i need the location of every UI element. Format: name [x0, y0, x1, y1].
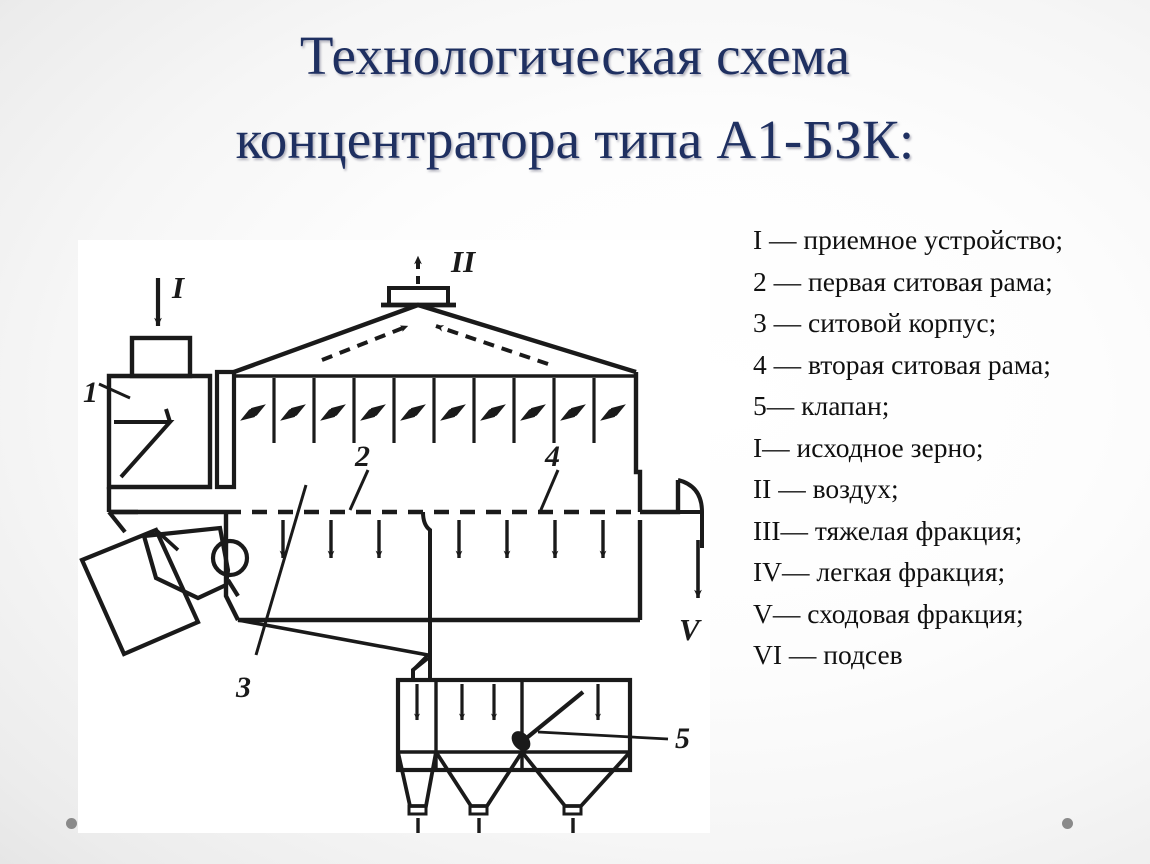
- label-part-4: 4: [544, 440, 560, 473]
- vent-box: [389, 288, 448, 305]
- legend-item-4: 4 — вторая ситовая рама;: [753, 344, 1145, 386]
- hopper-spout-III: [470, 806, 487, 814]
- figure-labels-group: 1 2 3 4 5 I II V VI III IV: [83, 244, 702, 833]
- airflow-arrow-right: [436, 326, 548, 364]
- label-part-1: 1: [83, 376, 98, 409]
- decorative-dot-left: [66, 818, 77, 829]
- legend-item-2: 2 — первая ситовая рама;: [753, 261, 1145, 303]
- drive-mechanism-group: [82, 512, 247, 654]
- hopper-spout-VI: [409, 806, 426, 814]
- legend-item-6: I— исходное зерно;: [753, 427, 1145, 469]
- housing-inclined-floor: [238, 620, 428, 655]
- legend-list: I — приемное устройство; 2 — первая сито…: [753, 219, 1145, 676]
- inlet-device-group: [99, 338, 210, 487]
- schematic-figure: 1 2 3 4 5 I II V VI III IV: [78, 240, 710, 833]
- leader-line-part-1: [99, 384, 130, 398]
- legend-item-9: IV— легкая фракция;: [753, 551, 1145, 593]
- leader-line-part-4: [540, 470, 558, 512]
- slide-canvas: Технологическая схема концентратора типа…: [0, 0, 1150, 864]
- leader-line-part-2: [350, 470, 368, 510]
- overflow-chute-group: [678, 480, 702, 598]
- air-outlet-vent-group: [381, 288, 456, 305]
- legend-item-5: 5— клапан;: [753, 385, 1145, 427]
- housing-right-step: [640, 480, 678, 512]
- label-flow-V: V: [679, 612, 702, 647]
- legend-item-1: I — приемное устройство;: [753, 219, 1145, 261]
- page-title-line-2: концентратора типа А1-БЗК:: [95, 98, 1055, 182]
- hopper-cone-III: [436, 752, 522, 806]
- collecting-hopper-group: [398, 680, 668, 814]
- hopper-spout-IV: [564, 806, 581, 814]
- legend-item-7: II — воздух;: [753, 468, 1145, 510]
- housing-roof: [234, 305, 636, 372]
- decorative-dot-right: [1062, 818, 1073, 829]
- inlet-neck-box: [132, 338, 190, 376]
- leader-lines-group: [256, 470, 558, 655]
- label-part-3: 3: [235, 671, 251, 704]
- concentrator-schematic-drawing: 1 2 3 4 5 I II V VI III IV: [78, 240, 710, 833]
- hopper-outlet-arrows: [418, 818, 573, 833]
- label-flow-II: II: [450, 244, 476, 279]
- page-title-line-1: Технологическая схема: [95, 14, 1055, 98]
- hopper-cone-VI: [398, 752, 436, 806]
- drive-link-lower: [228, 580, 238, 596]
- legend-item-11: VI — подсев: [753, 634, 1145, 676]
- airflow-arrow-left: [322, 326, 408, 360]
- hopper-cone-IV: [522, 752, 630, 806]
- drive-link-upper: [109, 512, 125, 532]
- label-part-2: 2: [354, 440, 370, 473]
- sieve-housing-group: [109, 305, 678, 655]
- legend-item-10: V— сходовая фракция;: [753, 593, 1145, 635]
- legend-item-3: 3 — ситовой корпус;: [753, 302, 1145, 344]
- housing-right-wall: [636, 372, 640, 512]
- hopper-outer-box: [398, 680, 630, 770]
- louvre-baffles-group: [274, 378, 594, 443]
- product-down-arrows-group: [283, 520, 603, 558]
- inlet-zigzag-baffle: [114, 422, 170, 477]
- legend-item-8: III— тяжелая фракция;: [753, 510, 1145, 552]
- page-title: Технологическая схема концентратора типа…: [95, 14, 1055, 182]
- inclined-floor-to-pipe: [413, 655, 428, 670]
- leader-line-part-5: [538, 732, 668, 739]
- label-part-5: 5: [675, 722, 690, 755]
- inlet-downcomer-duct: [217, 372, 234, 487]
- label-flow-I: I: [171, 270, 185, 305]
